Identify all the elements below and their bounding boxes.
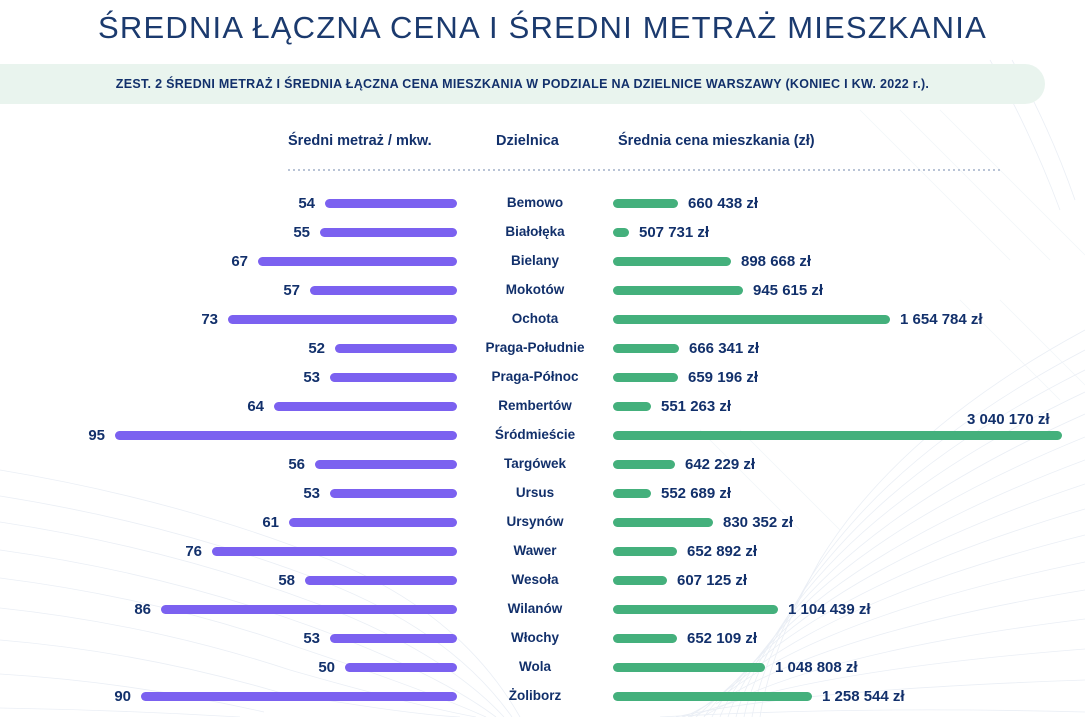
area-bar bbox=[305, 576, 457, 585]
price-bar bbox=[613, 663, 765, 672]
district-label: Wilanów bbox=[465, 601, 605, 616]
price-cell: 652 109 zł bbox=[613, 625, 1085, 654]
price-bar bbox=[613, 257, 731, 266]
area-bar bbox=[330, 373, 457, 382]
price-bar bbox=[613, 344, 679, 353]
area-value: 53 bbox=[303, 485, 320, 502]
area-cell: 73 bbox=[0, 306, 457, 335]
table-row: 50Wola1 048 808 zł bbox=[0, 654, 1085, 683]
price-bar bbox=[613, 692, 812, 701]
district-label: Żoliborz bbox=[465, 688, 605, 703]
table-row: 61Ursynów830 352 zł bbox=[0, 509, 1085, 538]
area-cell: 95 bbox=[0, 422, 457, 451]
price-value: 660 438 zł bbox=[688, 195, 758, 212]
area-cell: 57 bbox=[0, 277, 457, 306]
price-value: 3 040 170 zł bbox=[967, 411, 1050, 428]
area-cell: 56 bbox=[0, 451, 457, 480]
price-value: 552 689 zł bbox=[661, 485, 731, 502]
subtitle-band: ZEST. 2 ŚREDNI METRAŻ I ŚREDNIA ŁĄCZNA C… bbox=[0, 64, 1045, 104]
area-value: 95 bbox=[88, 427, 105, 444]
price-value: 898 668 zł bbox=[741, 253, 811, 270]
area-value: 50 bbox=[318, 659, 335, 676]
price-bar bbox=[613, 634, 677, 643]
area-bar bbox=[325, 199, 457, 208]
table-row: 73Ochota1 654 784 zł bbox=[0, 306, 1085, 335]
area-bar bbox=[115, 431, 457, 440]
price-bar bbox=[613, 431, 1062, 440]
price-cell: 552 689 zł bbox=[613, 480, 1085, 509]
area-value: 53 bbox=[303, 630, 320, 647]
district-label: Włochy bbox=[465, 630, 605, 645]
price-value: 659 196 zł bbox=[688, 369, 758, 386]
price-value: 607 125 zł bbox=[677, 572, 747, 589]
price-bar bbox=[613, 576, 667, 585]
price-bar bbox=[613, 402, 651, 411]
area-bar bbox=[330, 489, 457, 498]
header-divider bbox=[288, 169, 1000, 171]
area-bar bbox=[345, 663, 457, 672]
price-bar bbox=[613, 199, 678, 208]
price-value: 1 654 784 zł bbox=[900, 311, 983, 328]
price-value: 652 892 zł bbox=[687, 543, 757, 560]
area-cell: 55 bbox=[0, 219, 457, 248]
area-cell: 50 bbox=[0, 654, 457, 683]
area-bar bbox=[274, 402, 457, 411]
district-label: Bielany bbox=[465, 253, 605, 268]
price-value: 830 352 zł bbox=[723, 514, 793, 531]
subtitle-text: ZEST. 2 ŚREDNI METRAŻ I ŚREDNIA ŁĄCZNA C… bbox=[96, 77, 929, 91]
table-row: 55Białołęka507 731 zł bbox=[0, 219, 1085, 248]
table-row: 53Włochy652 109 zł bbox=[0, 625, 1085, 654]
district-label: Praga-Północ bbox=[465, 369, 605, 384]
area-cell: 64 bbox=[0, 393, 457, 422]
table-row: 95Śródmieście3 040 170 zł bbox=[0, 422, 1085, 451]
price-bar bbox=[613, 315, 890, 324]
price-cell: 945 615 zł bbox=[613, 277, 1085, 306]
area-bar bbox=[320, 228, 457, 237]
area-cell: 53 bbox=[0, 480, 457, 509]
area-cell: 86 bbox=[0, 596, 457, 625]
price-bar bbox=[613, 605, 778, 614]
district-label: Ursynów bbox=[465, 514, 605, 529]
area-bar bbox=[330, 634, 457, 643]
price-value: 642 229 zł bbox=[685, 456, 755, 473]
area-bar bbox=[289, 518, 457, 527]
price-bar bbox=[613, 489, 651, 498]
district-label: Praga-Południe bbox=[465, 340, 605, 355]
area-value: 57 bbox=[283, 282, 300, 299]
area-value: 58 bbox=[278, 572, 295, 589]
price-cell: 830 352 zł bbox=[613, 509, 1085, 538]
price-value: 551 263 zł bbox=[661, 398, 731, 415]
district-label: Śródmieście bbox=[465, 427, 605, 442]
district-label: Targówek bbox=[465, 456, 605, 471]
area-value: 56 bbox=[288, 456, 305, 473]
price-cell: 652 892 zł bbox=[613, 538, 1085, 567]
table-row: 64Rembertów551 263 zł bbox=[0, 393, 1085, 422]
price-cell: 659 196 zł bbox=[613, 364, 1085, 393]
price-value: 652 109 zł bbox=[687, 630, 757, 647]
price-bar bbox=[613, 228, 629, 237]
area-cell: 54 bbox=[0, 190, 457, 219]
area-value: 55 bbox=[293, 224, 310, 241]
price-value: 945 615 zł bbox=[753, 282, 823, 299]
price-bar bbox=[613, 547, 677, 556]
price-cell: 666 341 zł bbox=[613, 335, 1085, 364]
district-label: Ochota bbox=[465, 311, 605, 326]
price-cell: 1 654 784 zł bbox=[613, 306, 1085, 335]
column-header-district: Dzielnica bbox=[496, 133, 559, 149]
price-cell: 660 438 zł bbox=[613, 190, 1085, 219]
table-row: 90Żoliborz1 258 544 zł bbox=[0, 683, 1085, 712]
price-cell: 642 229 zł bbox=[613, 451, 1085, 480]
area-bar bbox=[310, 286, 457, 295]
area-cell: 53 bbox=[0, 625, 457, 654]
table-row: 53Praga-Północ659 196 zł bbox=[0, 364, 1085, 393]
area-value: 54 bbox=[298, 195, 315, 212]
chart-rows: 54Bemowo660 438 zł55Białołęka507 731 zł6… bbox=[0, 190, 1085, 712]
area-value: 67 bbox=[231, 253, 248, 270]
price-value: 1 258 544 zł bbox=[822, 688, 905, 705]
table-row: 56Targówek642 229 zł bbox=[0, 451, 1085, 480]
infographic-page: ŚREDNIA ŁĄCZNA CENA I ŚREDNI METRAŻ MIES… bbox=[0, 0, 1085, 717]
area-value: 53 bbox=[303, 369, 320, 386]
district-label: Białołęka bbox=[465, 224, 605, 239]
price-bar bbox=[613, 518, 713, 527]
area-cell: 53 bbox=[0, 364, 457, 393]
area-cell: 90 bbox=[0, 683, 457, 712]
area-bar bbox=[315, 460, 457, 469]
column-header-price: Średnia cena mieszkania (zł) bbox=[618, 133, 815, 149]
area-bar bbox=[335, 344, 457, 353]
district-label: Bemowo bbox=[465, 195, 605, 210]
area-bar bbox=[212, 547, 457, 556]
area-cell: 58 bbox=[0, 567, 457, 596]
price-cell: 607 125 zł bbox=[613, 567, 1085, 596]
area-value: 76 bbox=[185, 543, 202, 560]
district-label: Wawer bbox=[465, 543, 605, 558]
table-row: 86Wilanów1 104 439 zł bbox=[0, 596, 1085, 625]
price-cell: 3 040 170 zł bbox=[613, 422, 1085, 451]
table-row: 54Bemowo660 438 zł bbox=[0, 190, 1085, 219]
area-value: 52 bbox=[308, 340, 325, 357]
table-row: 52Praga-Południe666 341 zł bbox=[0, 335, 1085, 364]
district-label: Ursus bbox=[465, 485, 605, 500]
price-value: 507 731 zł bbox=[639, 224, 709, 241]
price-cell: 1 104 439 zł bbox=[613, 596, 1085, 625]
price-cell: 507 731 zł bbox=[613, 219, 1085, 248]
table-row: 57Mokotów945 615 zł bbox=[0, 277, 1085, 306]
price-value: 666 341 zł bbox=[689, 340, 759, 357]
area-cell: 76 bbox=[0, 538, 457, 567]
area-value: 90 bbox=[114, 688, 131, 705]
price-cell: 1 048 808 zł bbox=[613, 654, 1085, 683]
price-value: 1 104 439 zł bbox=[788, 601, 871, 618]
page-title: ŚREDNIA ŁĄCZNA CENA I ŚREDNI METRAŻ MIES… bbox=[0, 10, 1085, 46]
area-value: 73 bbox=[201, 311, 218, 328]
table-row: 58Wesoła607 125 zł bbox=[0, 567, 1085, 596]
area-bar bbox=[258, 257, 457, 266]
table-row: 76Wawer652 892 zł bbox=[0, 538, 1085, 567]
column-header-area: Średni metraż / mkw. bbox=[288, 133, 432, 149]
price-bar bbox=[613, 460, 675, 469]
area-value: 61 bbox=[262, 514, 279, 531]
district-label: Mokotów bbox=[465, 282, 605, 297]
area-bar bbox=[141, 692, 457, 701]
area-bar bbox=[161, 605, 457, 614]
district-label: Rembertów bbox=[465, 398, 605, 413]
area-cell: 52 bbox=[0, 335, 457, 364]
price-cell: 898 668 zł bbox=[613, 248, 1085, 277]
district-label: Wola bbox=[465, 659, 605, 674]
area-cell: 61 bbox=[0, 509, 457, 538]
area-bar bbox=[228, 315, 457, 324]
area-value: 86 bbox=[134, 601, 151, 618]
area-value: 64 bbox=[247, 398, 264, 415]
price-bar bbox=[613, 286, 743, 295]
table-row: 67Bielany898 668 zł bbox=[0, 248, 1085, 277]
area-cell: 67 bbox=[0, 248, 457, 277]
district-label: Wesoła bbox=[465, 572, 605, 587]
price-cell: 1 258 544 zł bbox=[613, 683, 1085, 712]
price-bar bbox=[613, 373, 678, 382]
table-row: 53Ursus552 689 zł bbox=[0, 480, 1085, 509]
price-value: 1 048 808 zł bbox=[775, 659, 858, 676]
